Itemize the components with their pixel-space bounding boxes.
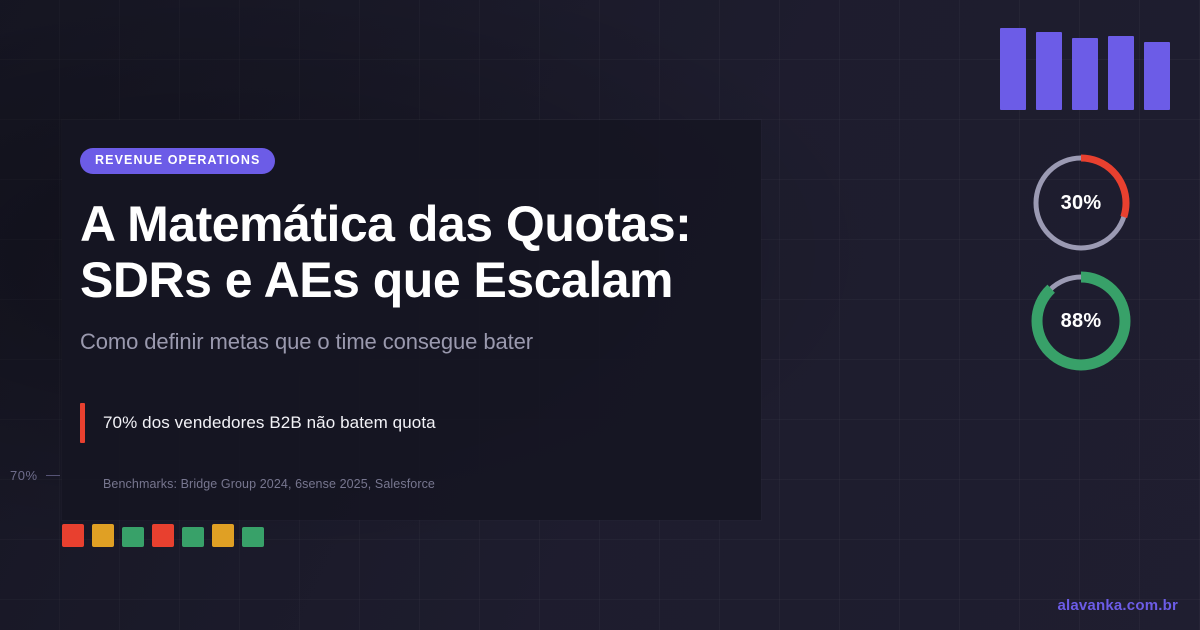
donut-chart-88: 88% (1026, 266, 1136, 376)
donut-88-center-label: 88% (1026, 266, 1136, 376)
decorative-bar-3 (1072, 38, 1098, 110)
axis-tick-70: 70% (10, 468, 60, 483)
mini-status-bar-3 (122, 527, 144, 546)
decorative-bar-5 (1144, 42, 1170, 110)
page-title-line-1: A Matemática das Quotas: (80, 196, 721, 253)
donut-chart-30: 30% (1026, 148, 1136, 258)
donut-30-center-label: 30% (1026, 148, 1136, 258)
decorative-bar-chart (1000, 18, 1182, 110)
category-badge: REVENUE OPERATIONS (80, 148, 275, 174)
decorative-bar-4 (1108, 36, 1134, 110)
stat-highlight-text: 70% dos vendedores B2B não batem quota (103, 413, 436, 433)
og-card-canvas: 30% 88% 70% REVENUE OPERATIONS A Matemát… (0, 0, 1200, 630)
mini-status-bar-7 (242, 527, 264, 546)
sources-note: Benchmarks: Bridge Group 2024, 6sense 20… (103, 477, 721, 491)
stat-accent-bar (80, 403, 85, 443)
mini-status-bar-2 (92, 524, 114, 547)
page-title: A Matemática das Quotas: SDRs e AEs que … (80, 196, 721, 309)
mini-status-bar-4 (152, 524, 174, 547)
mini-status-bar-6 (212, 524, 234, 547)
axis-tick-mark (46, 475, 60, 476)
page-subtitle: Como definir metas que o time consegue b… (80, 329, 721, 355)
stat-highlight: 70% dos vendedores B2B não batem quota (80, 403, 721, 443)
content-card-inner: REVENUE OPERATIONS A Matemática das Quot… (62, 120, 761, 491)
site-watermark: alavanka.com.br (1057, 597, 1178, 614)
mini-status-bars (62, 524, 264, 547)
axis-tick-label: 70% (10, 468, 38, 483)
decorative-bar-1 (1000, 28, 1026, 110)
page-title-line-2: SDRs e AEs que Escalam (80, 252, 721, 309)
mini-status-bar-5 (182, 527, 204, 546)
decorative-bar-2 (1036, 32, 1062, 110)
content-card: REVENUE OPERATIONS A Matemática das Quot… (62, 120, 761, 520)
mini-status-bar-1 (62, 524, 84, 547)
